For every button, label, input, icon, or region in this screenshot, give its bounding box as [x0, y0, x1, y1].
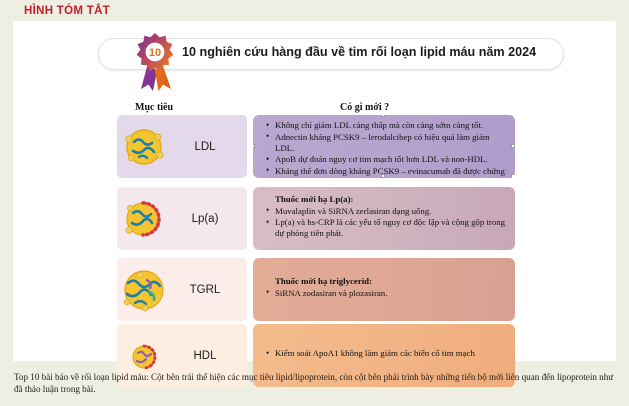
bullet-list: Muvalaplin và SiRNA zerlasiran dạng uống… [261, 206, 508, 240]
list-item: Không chỉ giảm LDL càng thấp mà còn càng… [261, 120, 508, 131]
list-item: SiRNA zodasiran và plozasiran. [261, 288, 508, 299]
selection-handle[interactable] [511, 174, 515, 178]
ldl-lipoprotein-icon [121, 124, 167, 170]
row-target-label: Lp(a) [167, 213, 247, 225]
row-target-cell-ldl: LDL [117, 115, 247, 178]
list-item: Lp(a) và hs-CRP là các yếu tố nguy cơ độ… [261, 217, 508, 239]
figure-card: 10 10 nghiên cứu hàng đầu về tim rối loạ… [13, 21, 616, 361]
table-row: LDL Không chỉ giảm LDL càng thấp mà còn … [13, 115, 616, 178]
column-header-left: Mục tiêu [135, 102, 173, 113]
banner-label: HÌNH TÓM TẮT [24, 5, 110, 17]
rosette-badge-icon: 10 [131, 31, 179, 93]
bullet-list: SiRNA zodasiran và plozasiran. [261, 288, 508, 299]
selection-handle[interactable] [381, 174, 385, 178]
row-target-label: LDL [167, 141, 247, 153]
bullet-list: Kiểm soát ApoA1 không làm giảm các biến … [261, 348, 508, 359]
row-subtitle: Thuốc mới hạ Lp(a): [275, 194, 508, 205]
column-header-right: Có gì mới ? [340, 102, 389, 113]
row-target-cell-lpa: Lp(a) [117, 187, 247, 250]
row-target-cell-tgrl: TGRL [117, 258, 247, 321]
row-target-label: TGRL [167, 284, 247, 296]
tgrl-lipoprotein-icon [121, 267, 167, 313]
table-row: TGRL Thuốc mới hạ triglycerid: SiRNA zod… [13, 258, 616, 321]
row-target-label: HDL [167, 350, 247, 362]
row-content-cell-tgrl: Thuốc mới hạ triglycerid: SiRNA zodasira… [253, 258, 515, 321]
list-item: ApoB dự đoán nguy cơ tim mạch tốt hơn LD… [261, 154, 508, 165]
lpa-lipoprotein-icon [121, 196, 167, 242]
row-subtitle: Thuốc mới hạ triglycerid: [275, 276, 508, 287]
selection-handle[interactable] [253, 174, 255, 178]
figure-caption: Top 10 bài báo về rối loạn lipid máu: Cộ… [14, 371, 616, 396]
row-content-cell-lpa: Thuốc mới hạ Lp(a): Muvalaplin và SiRNA … [253, 187, 515, 250]
badge-number: 10 [149, 47, 161, 59]
list-item: Kiểm soát ApoA1 không làm giảm các biến … [261, 348, 508, 359]
selection-handle[interactable] [381, 115, 385, 117]
page-title: 10 nghiên cứu hàng đầu về tim rối loạn l… [182, 45, 552, 59]
figure-root: HÌNH TÓM TẮT [0, 0, 629, 406]
row-content-cell-ldl: Không chỉ giảm LDL càng thấp mà còn càng… [253, 115, 515, 178]
list-item: Muvalaplin và SiRNA zerlasiran dạng uống… [261, 206, 508, 217]
selection-handle[interactable] [511, 144, 515, 148]
selection-handle[interactable] [253, 144, 255, 148]
table-row: Lp(a) Thuốc mới hạ Lp(a): Muvalaplin và … [13, 187, 616, 250]
bullet-list: Không chỉ giảm LDL càng thấp mà còn càng… [261, 120, 508, 178]
list-item: Adnectin kháng PCSK9 – lerodalcibep có h… [261, 132, 508, 154]
selection-handle[interactable] [511, 115, 515, 117]
selection-handle[interactable] [253, 115, 255, 117]
